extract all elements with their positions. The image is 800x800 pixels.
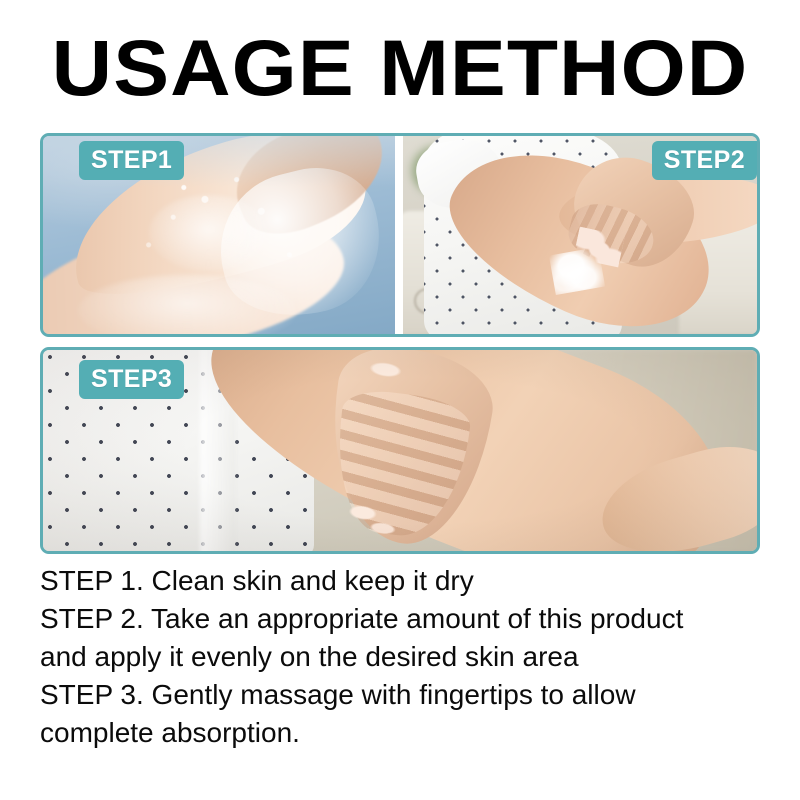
step3-photo: STEP3: [43, 350, 757, 551]
instruction-line-2: STEP 2. Take an appropriate amount of th…: [40, 600, 770, 638]
step2-cream-smear: [549, 247, 605, 295]
step1-photo: STEP1: [43, 136, 395, 334]
instruction-line-1: STEP 1. Clean skin and keep it dry: [40, 562, 770, 600]
instruction-line-3: and apply it evenly on the desired skin …: [40, 638, 770, 676]
step3-panel: STEP3: [40, 347, 760, 554]
page-title: USAGE METHOD: [0, 26, 800, 110]
step2-badge: STEP2: [652, 141, 757, 180]
instructions-block: STEP 1. Clean skin and keep it dry STEP …: [40, 562, 770, 752]
step2-photo: STEP2: [403, 136, 757, 334]
step-panel-row-top: STEP1 STEP2: [40, 133, 760, 337]
panel-gap-divider: [395, 136, 403, 334]
instruction-line-5: complete absorption.: [40, 714, 770, 752]
instruction-line-4: STEP 3. Gently massage with fingertips t…: [40, 676, 770, 714]
step3-badge: STEP3: [79, 360, 184, 399]
step1-badge: STEP1: [79, 141, 184, 180]
usage-method-page: USAGE METHOD STEP1: [0, 0, 800, 800]
